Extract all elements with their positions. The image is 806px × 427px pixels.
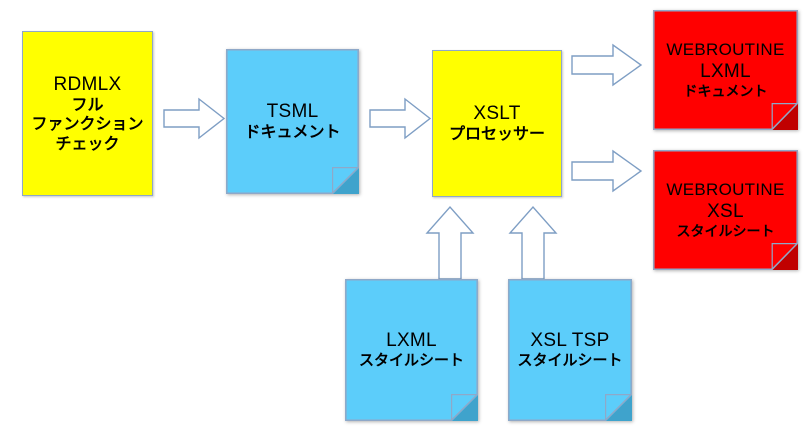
node-webroutine-lxml[interactable]: WEBROUTINE LXML ドキュメント [653, 10, 798, 130]
arrow-rdmlx-to-tsml [163, 96, 226, 141]
node-xsltsp-stylesheet-line-2: スタイルシート [508, 352, 632, 370]
node-rdmlx[interactable]: RDMLX フル ファンクション チェック [22, 31, 153, 196]
node-webroutine-lxml-line-3: ドキュメント [653, 83, 798, 100]
node-webroutine-xsl-line-2: XSL [653, 200, 798, 223]
arrow-xsltsp-stylesheet-to-xslt [507, 205, 559, 280]
node-tsml-line-1: TSML [226, 100, 359, 123]
node-xslt-line-1: XSLT [433, 102, 561, 125]
node-webroutine-xsl-line-3: スタイルシート [653, 223, 798, 240]
node-tsml-line-2: ドキュメント [226, 123, 359, 143]
node-rdmlx-line-3: ファンクション [23, 115, 152, 135]
diagram-canvas: RDMLX フル ファンクション チェック TSML ドキュメント XS [0, 0, 806, 427]
node-lxml-stylesheet[interactable]: LXML スタイルシート [345, 279, 478, 421]
node-webroutine-lxml-line-1: WEBROUTINE [653, 40, 798, 61]
node-xslt-line-2: プロセッサー [433, 125, 561, 145]
node-xslt-processor[interactable]: XSLT プロセッサー [432, 50, 562, 197]
arrow-xslt-to-webroutine-xsl [571, 148, 643, 194]
node-lxml-stylesheet-line-2: スタイルシート [345, 352, 478, 370]
node-lxml-stylesheet-line-1: LXML [345, 329, 478, 352]
node-rdmlx-line-4: チェック [23, 135, 152, 155]
node-webroutine-xsl-line-1: WEBROUTINE [653, 180, 798, 201]
node-tsml[interactable]: TSML ドキュメント [226, 49, 359, 194]
node-webroutine-xsl[interactable]: WEBROUTINE XSL スタイルシート [653, 150, 798, 270]
node-xsltsp-stylesheet[interactable]: XSL TSP スタイルシート [508, 279, 632, 421]
arrow-tsml-to-xslt [369, 96, 432, 141]
node-xsltsp-stylesheet-line-1: XSL TSP [508, 329, 632, 352]
node-webroutine-lxml-line-2: LXML [653, 60, 798, 83]
node-rdmlx-line-2: フル [23, 96, 152, 116]
arrow-xslt-to-webroutine-lxml [571, 42, 643, 88]
arrow-lxml-stylesheet-to-xslt [424, 205, 476, 280]
node-rdmlx-line-1: RDMLX [23, 73, 152, 96]
